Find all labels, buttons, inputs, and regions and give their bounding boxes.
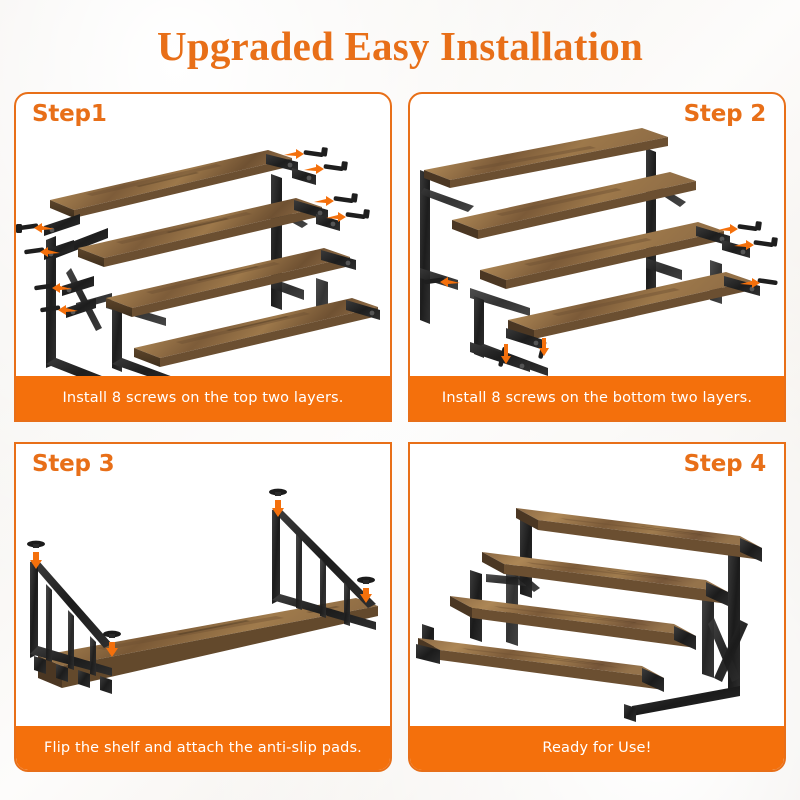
shelf-board-second	[452, 172, 696, 239]
step-panel-2: Step 2	[408, 92, 786, 422]
shelf-board-third	[106, 248, 350, 317]
screw	[284, 147, 328, 159]
step-2-illustration	[410, 128, 784, 378]
shelf-board-bottom	[508, 272, 752, 339]
shelf-board-top	[516, 508, 762, 560]
step-3-illustration	[16, 478, 390, 728]
step-label-4: Step 4	[684, 451, 766, 477]
screw	[314, 193, 358, 206]
step-label-2: Step 2	[684, 101, 766, 127]
step-1-illustration	[16, 128, 390, 378]
step-label-1: Step1	[32, 101, 107, 127]
step-caption-1: Install 8 screws on the top two layers.	[16, 376, 390, 420]
page-title: Upgraded Easy Installation	[0, 22, 800, 70]
step-4-illustration	[410, 478, 784, 728]
shelf-board-bottom	[134, 298, 378, 367]
step-panel-1: Step1	[14, 92, 392, 422]
step-label-3: Step 3	[32, 451, 114, 477]
screw	[718, 221, 762, 234]
step-panel-4: Step 4	[408, 442, 786, 772]
anti-slip-pad	[27, 541, 45, 569]
steps-grid: Step1	[14, 92, 786, 782]
step-caption-4: Ready for Use!	[410, 726, 784, 770]
step-caption-2: Install 8 screws on the bottom two layer…	[410, 376, 784, 420]
shelf-board-top	[424, 128, 668, 188]
step-caption-3: Flip the shelf and attach the anti-slip …	[16, 726, 390, 770]
shelf-board-second	[78, 198, 322, 267]
shelf-board-third	[450, 596, 696, 648]
installation-guide-page: Upgraded Easy Installation Step1	[0, 0, 800, 800]
screw	[304, 161, 348, 174]
shelf-board-bottom	[418, 638, 664, 690]
shelf-board-third	[480, 222, 724, 289]
step-panel-3: Step 3	[14, 442, 392, 772]
